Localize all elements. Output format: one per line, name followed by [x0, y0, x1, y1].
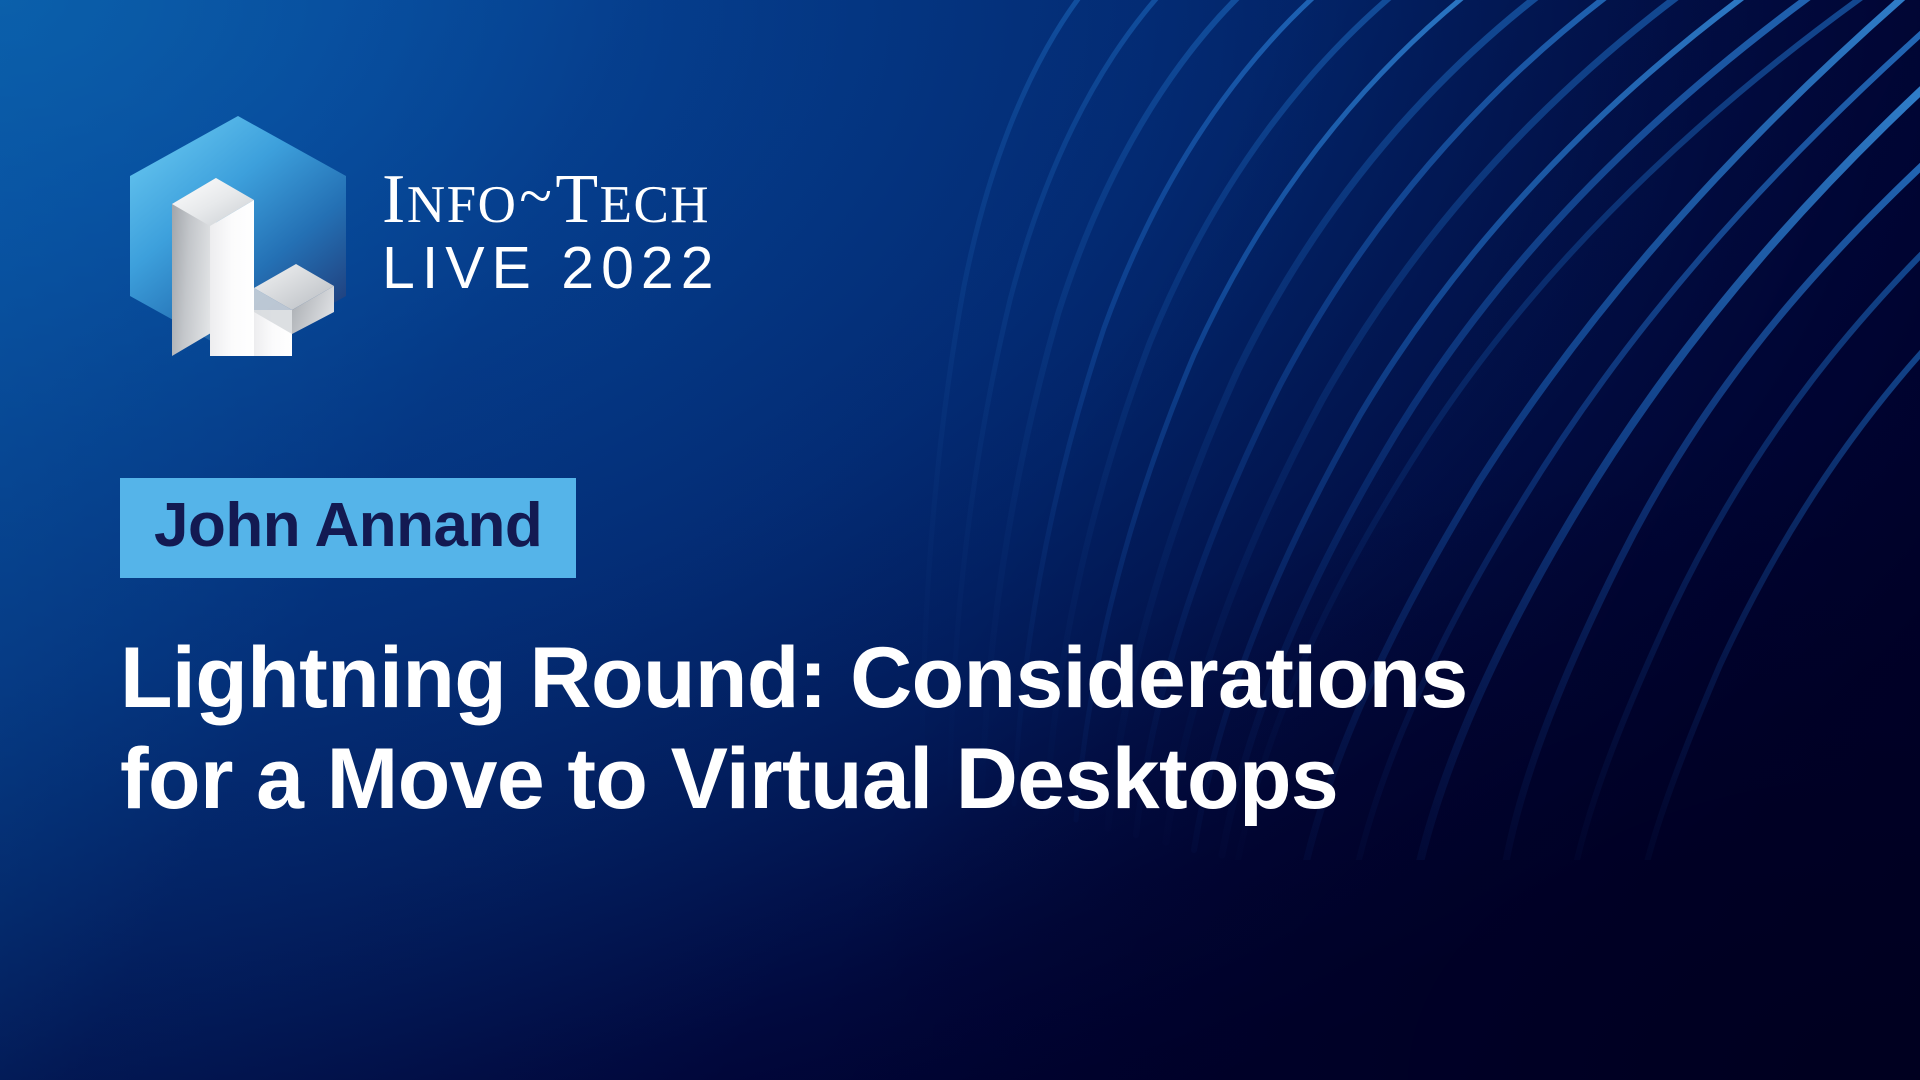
wordmark-line-live-2022: LIVE 2022: [382, 238, 721, 300]
wordmark-line-info-tech: INFO~TECH: [382, 166, 721, 235]
title-slide: INFO~TECH LIVE 2022 John Annand Lightnin…: [0, 0, 1920, 1080]
wordmark-tilde: ~: [517, 163, 555, 229]
session-title-line-2: for a Move to Virtual Desktops: [120, 729, 1740, 830]
session-title-line-1: Lightning Round: Considerations: [120, 628, 1740, 729]
speaker-name-text: John Annand: [154, 495, 542, 557]
info-tech-hexagon-l-logo-icon: [120, 112, 356, 360]
session-title: Lightning Round: Considerations for a Mo…: [120, 628, 1740, 831]
wordmark-letter-i: I: [382, 161, 407, 238]
brand-lockup: INFO~TECH LIVE 2022: [120, 112, 721, 360]
speaker-name-badge: John Annand: [120, 478, 576, 578]
wordmark-letter-t: T: [555, 161, 599, 238]
wordmark-letters-nfo: NFO: [407, 176, 518, 234]
wordmark-letters-ech: ECH: [600, 176, 711, 234]
wordmark: INFO~TECH LIVE 2022: [382, 166, 721, 307]
